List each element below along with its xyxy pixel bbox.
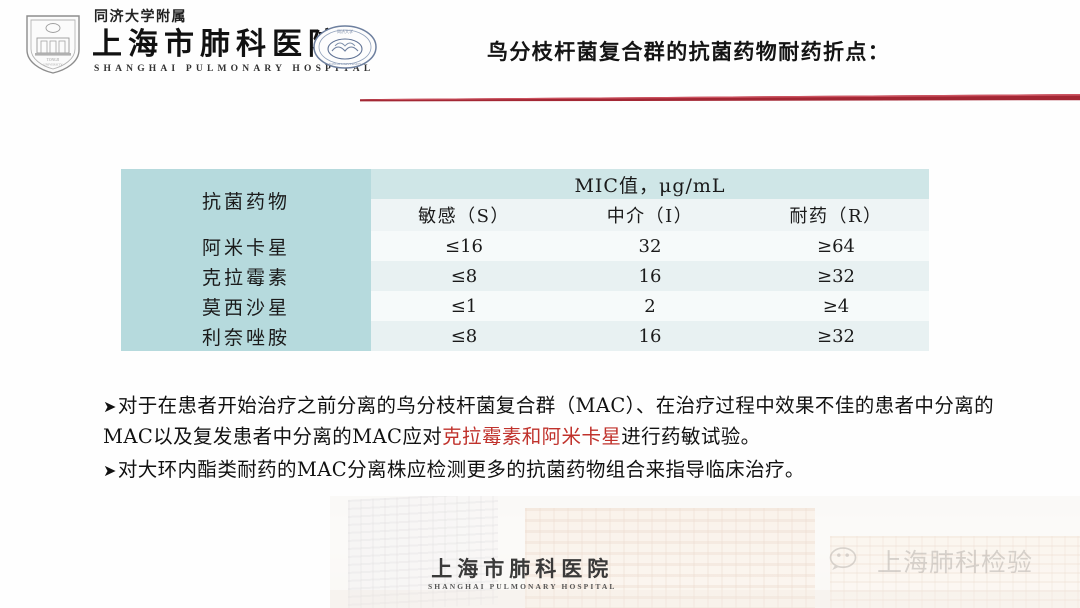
cell-drug: 莫西沙星 — [121, 291, 371, 321]
cell-intermediate: 16 — [557, 261, 743, 291]
cell-susceptible: ≤8 — [371, 321, 557, 351]
slide-root: 上海市肺科医院 SHANGHAI PULMONARY HOSPITAL 上海肺科… — [0, 0, 1080, 608]
footer-logo-cn: 上海市肺科医院 — [428, 558, 617, 579]
svg-text:TONGJI: TONGJI — [47, 58, 60, 62]
cell-susceptible: ≤8 — [371, 261, 557, 291]
cell-intermediate: 2 — [557, 291, 743, 321]
bullet-list: ➤对于在患者开始治疗之前分离的鸟分枝杆菌复合群（MAC）、在治疗过程中效果不佳的… — [103, 390, 1003, 488]
cell-intermediate: 16 — [557, 321, 743, 351]
wechat-handle: 上海肺科检验 — [828, 543, 1033, 579]
bullet-2-part-1: 对大环内酯类耐药的MAC分离株应检测更多的抗菌药物组合来指导临床治疗。 — [118, 458, 805, 481]
bullet-item-1: ➤对于在患者开始治疗之前分离的鸟分枝杆菌复合群（MAC）、在治疗过程中效果不佳的… — [103, 390, 1003, 452]
cell-resistant: ≥64 — [743, 231, 929, 261]
table-row: 利奈唑胺 ≤8 16 ≥32 — [121, 321, 929, 351]
svg-text:UNIVERSITY: UNIVERSITY — [43, 63, 63, 67]
svg-text:同济大学: 同济大学 — [337, 28, 353, 34]
bullet-arrow-icon: ➤ — [103, 461, 117, 480]
th-mic-group: MIC值，μg/mL — [371, 169, 929, 199]
brand-affiliation: 同济大学附属 — [94, 6, 374, 26]
table-row: 阿米卡星 ≤16 32 ≥64 — [121, 231, 929, 261]
th-susceptible: 敏感（S） — [371, 199, 557, 231]
table-header-row-1: 抗菌药物 MIC值，μg/mL — [121, 169, 929, 199]
cell-susceptible: ≤1 — [371, 291, 557, 321]
th-intermediate: 中介（I） — [557, 199, 743, 231]
th-drug: 抗菌药物 — [121, 169, 371, 231]
th-resistant: 耐药（R） — [743, 199, 929, 231]
table-row: 克拉霉素 ≤8 16 ≥32 — [121, 261, 929, 291]
cell-resistant: ≥32 — [743, 321, 929, 351]
wechat-icon — [828, 546, 868, 576]
cell-susceptible: ≤16 — [371, 231, 557, 261]
footer-logo-en: SHANGHAI PULMONARY HOSPITAL — [428, 582, 617, 591]
footer-hospital-logo: 上海市肺科医院 SHANGHAI PULMONARY HOSPITAL — [428, 558, 617, 591]
cell-drug: 利奈唑胺 — [121, 321, 371, 351]
svg-text:TONGJI UNIVERSITY: TONGJI UNIVERSITY — [329, 62, 363, 66]
watermark-ground — [330, 590, 1080, 608]
table-row: 莫西沙星 ≤1 2 ≥4 — [121, 291, 929, 321]
bullet-item-2: ➤对大环内酯类耐药的MAC分离株应检测更多的抗菌药物组合来指导临床治疗。 — [103, 454, 1003, 485]
page-title: 鸟分枝杆菌复合群的抗菌药物耐药折点： — [487, 36, 890, 66]
cell-intermediate: 32 — [557, 231, 743, 261]
cell-resistant: ≥4 — [743, 291, 929, 321]
cell-resistant: ≥32 — [743, 261, 929, 291]
title-underline-rule — [360, 94, 1080, 102]
cell-drug: 克拉霉素 — [121, 261, 371, 291]
tongji-university-seal-icon: 同济大学 TONGJI UNIVERSITY — [312, 24, 378, 70]
wechat-handle-text: 上海肺科检验 — [877, 543, 1033, 579]
university-shield-icon: TONGJI UNIVERSITY — [22, 12, 84, 76]
mic-breakpoint-table: 抗菌药物 MIC值，μg/mL 敏感（S） 中介（I） 耐药（R） 阿米卡星 ≤… — [121, 169, 929, 351]
bullet-1-highlight: 克拉霉素和阿米卡星 — [442, 425, 621, 448]
bullet-arrow-icon: ➤ — [103, 397, 117, 416]
cell-drug: 阿米卡星 — [121, 231, 371, 261]
bullet-1-part-3: 进行药敏试验。 — [621, 425, 760, 448]
